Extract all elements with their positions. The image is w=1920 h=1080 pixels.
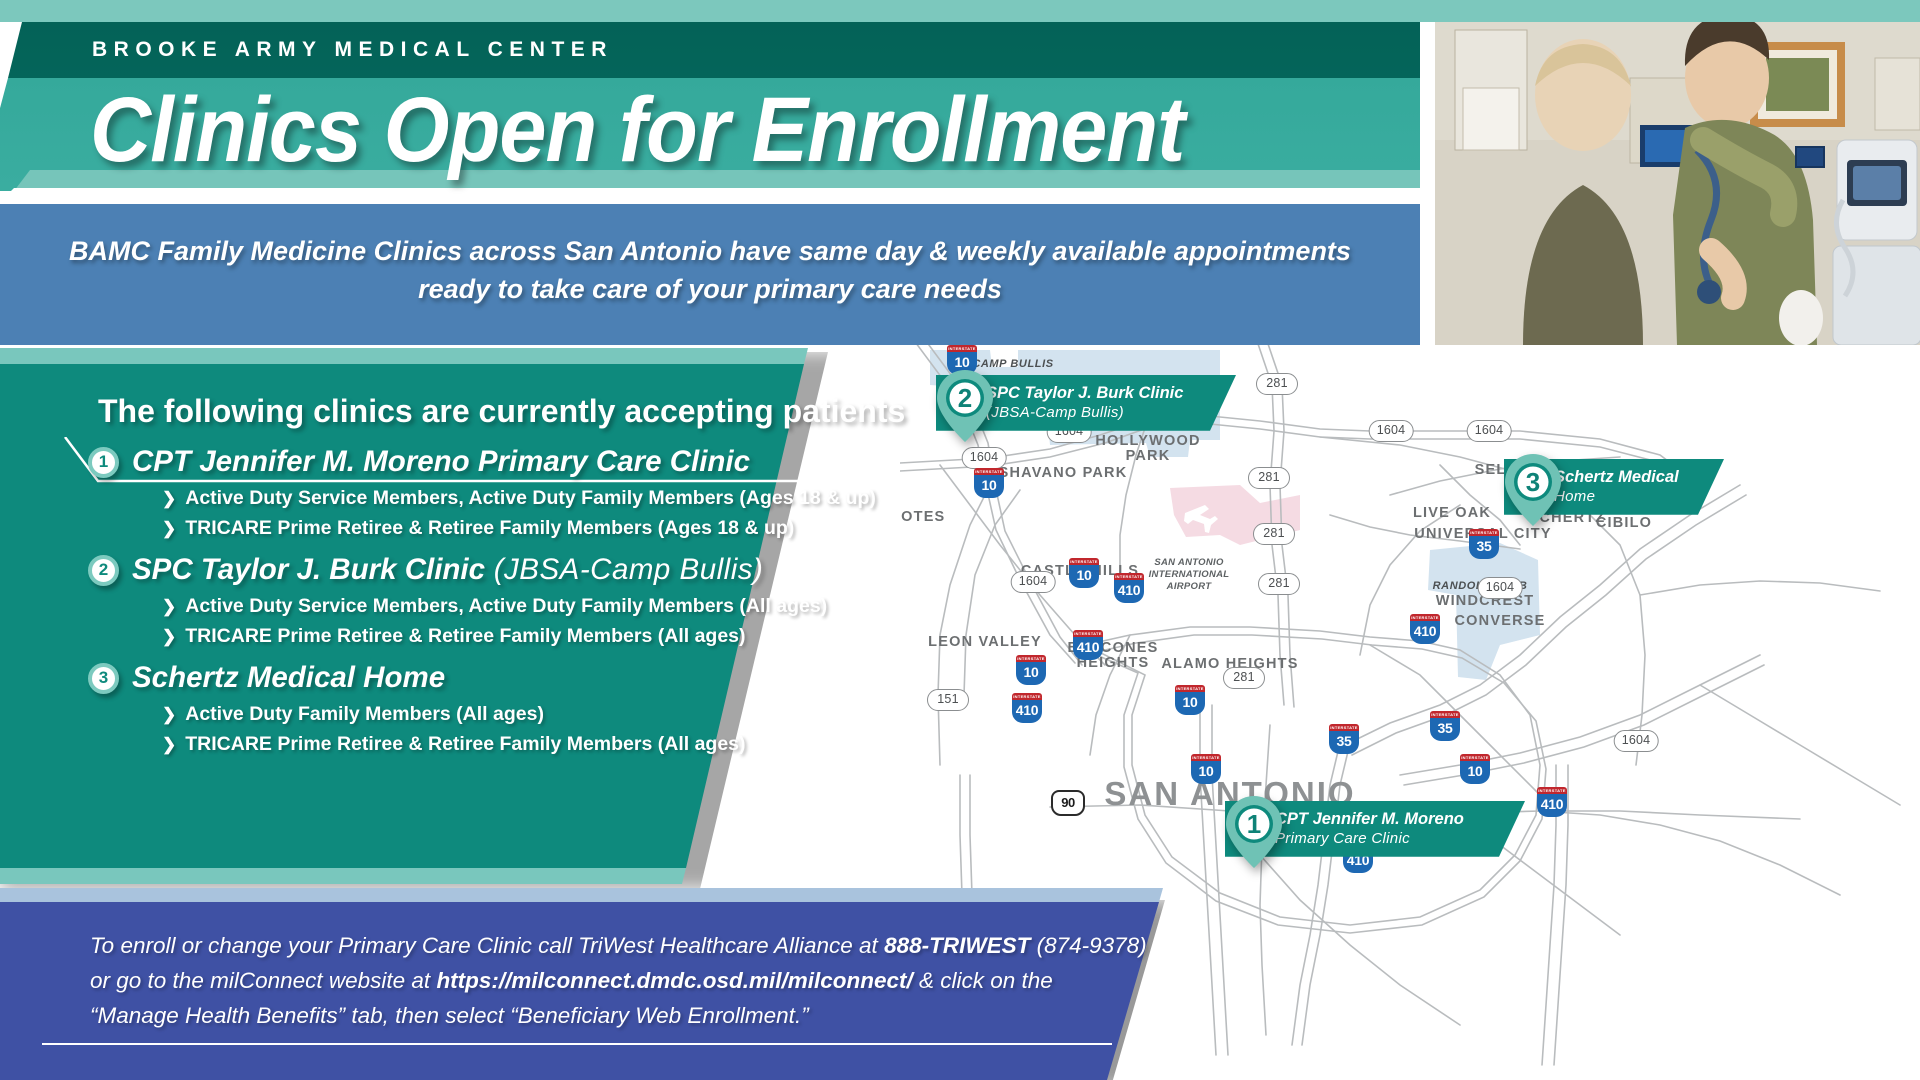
infographic-poster: HOLLYWOODPARKSHAVANO PARKSELMAHELOTESLIV… (0, 0, 1920, 1080)
state-road-shield-icon: 1604 (1478, 577, 1523, 599)
eligibility-item: ❯Active Duty Service Members, Active Dut… (162, 595, 827, 618)
interstate-shield-icon: INTERSTATE35 (1469, 529, 1499, 559)
us-highway-shield-icon: 90 (1051, 790, 1085, 816)
clinic-list-heading: The following clinics are currently acce… (98, 393, 905, 430)
shield-number: 410 (1073, 637, 1103, 660)
footer-line-3: “Manage Health Benefits” tab, then selec… (90, 998, 1170, 1033)
interstate-shield-icon: INTERSTATE410 (1073, 630, 1103, 660)
header-white-gap (0, 188, 1420, 204)
eligibility-item: ❯Active Duty Service Members, Active Dut… (162, 487, 876, 510)
interstate-shield-icon: INTERSTATE10 (1175, 685, 1205, 715)
map-airport-label-line: SAN ANTONIO (1149, 557, 1230, 569)
clinic-entry-3: 3Schertz Medical Home❯Active Duty Family… (88, 661, 746, 756)
interstate-shield-icon: INTERSTATE410 (1012, 693, 1042, 723)
eligibility-label: Active Duty Service Members, Active Duty… (185, 487, 876, 510)
map-pin-subtitle: (JBSA-Camp Bullis) (986, 404, 1202, 422)
map-pin-number: 3 (1504, 459, 1562, 505)
clinic-number-badge: 1 (88, 447, 119, 478)
shield-banner: INTERSTATE (1012, 693, 1042, 700)
map-city-label: HOLLYWOODPARK (1095, 434, 1200, 464)
map-pin-subtitle: Primary Care Clinic (1275, 830, 1491, 848)
map-city-label-line: PARK (1095, 449, 1200, 464)
footer-line2-c: & click on the (913, 968, 1053, 993)
clinic-entry-2: 2SPC Taylor J. Burk Clinic (JBSA-Camp Bu… (88, 553, 827, 648)
clinic-name: SPC Taylor J. Burk Clinic (JBSA-Camp Bul… (132, 553, 763, 587)
chevron-right-icon: ❯ (162, 520, 176, 537)
green-panel-bottom-accent (0, 868, 700, 884)
shield-banner: INTERSTATE (1410, 614, 1440, 621)
shield-number: 10 (1460, 761, 1490, 784)
map-pin-subtitle: Home (1554, 488, 1690, 506)
page-title: Clinics Open for Enrollment (90, 78, 1184, 183)
clinic-eligibility-list: ❯Active Duty Service Members, Active Dut… (162, 487, 876, 540)
chevron-right-icon: ❯ (162, 490, 176, 507)
shield-banner: INTERSTATE (974, 468, 1004, 475)
interstate-shield-icon: INTERSTATE410 (1410, 614, 1440, 644)
shield-banner: INTERSTATE (1537, 787, 1567, 794)
organization-name: BROOKE ARMY MEDICAL CENTER (92, 38, 613, 62)
clinic-title-row: 2SPC Taylor J. Burk Clinic (JBSA-Camp Bu… (88, 553, 827, 587)
clinic-photo-illustration (1435, 0, 1920, 345)
map-airport-label: SAN ANTONIOINTERNATIONALAIRPORT (1149, 557, 1230, 593)
map-airport-label-line: AIRPORT (1149, 581, 1230, 593)
shield-banner: INTERSTATE (1073, 630, 1103, 637)
footer-top-accent (0, 888, 1180, 902)
state-road-shield-icon: 281 (1248, 467, 1290, 489)
state-road-shield-icon: 281 (1256, 373, 1298, 395)
map-pin-title: SPC Taylor J. Burk Clinic (986, 384, 1202, 404)
clinic-eligibility-list: ❯Active Duty Service Members, Active Dut… (162, 595, 827, 648)
map-city-label-line: CIBILO (1596, 516, 1652, 531)
shield-banner: INTERSTATE (1329, 724, 1359, 731)
shield-number: 10 (1016, 662, 1046, 685)
shield-number: 410 (1114, 580, 1144, 603)
page-subtitle: BAMC Family Medicine Clinics across San … (60, 232, 1360, 309)
interstate-shield-icon: INTERSTATE35 (1329, 724, 1359, 754)
state-road-shield-icon: 1604 (962, 447, 1007, 469)
eligibility-item: ❯TRICARE Prime Retiree & Retiree Family … (162, 517, 876, 540)
shield-banner: INTERSTATE (1175, 685, 1205, 692)
clinic-number-badge: 2 (88, 555, 119, 586)
clinic-eligibility-list: ❯Active Duty Family Members (All ages)❯T… (162, 703, 746, 756)
chevron-right-icon: ❯ (162, 736, 176, 753)
state-road-shield-icon: 1604 (1369, 420, 1414, 442)
shield-number: 410 (1012, 700, 1042, 723)
map-city-label-line: CONVERSE (1455, 614, 1546, 629)
clinic-title-row: 3Schertz Medical Home (88, 661, 746, 695)
footer-line2-a: or go to the milConnect website at (90, 968, 436, 993)
map-pin-number: 2 (936, 375, 994, 421)
shield-number: 410 (1410, 621, 1440, 644)
footer-line-1: To enroll or change your Primary Care Cl… (90, 928, 1170, 963)
clinic-entry-1: 1CPT Jennifer M. Moreno Primary Care Cli… (88, 445, 876, 540)
clinic-list-heading-rule (60, 437, 940, 439)
footer-line-2: or go to the milConnect website at https… (90, 963, 1170, 998)
eligibility-item: ❯TRICARE Prime Retiree & Retiree Family … (162, 733, 746, 756)
footer-divider-rule (42, 1043, 1112, 1045)
shield-number: 35 (1430, 718, 1460, 741)
state-road-shield-icon: 281 (1223, 667, 1265, 689)
map-city-label: LEON VALLEY (928, 635, 1042, 650)
clinic-title-row: 1CPT Jennifer M. Moreno Primary Care Cli… (88, 445, 876, 479)
eligibility-item: ❯TRICARE Prime Retiree & Retiree Family … (162, 625, 827, 648)
state-road-shield-icon: 281 (1253, 523, 1295, 545)
clinic-name-location: (JBSA-Camp Bullis) (485, 553, 763, 586)
state-road-shield-icon: 151 (927, 689, 969, 711)
shield-banner: INTERSTATE (1114, 573, 1144, 580)
map-city-label-line: LEON VALLEY (928, 635, 1042, 650)
interstate-shield-icon: INTERSTATE10 (1191, 754, 1221, 784)
map-city-label: SHAVANO PARK (999, 466, 1128, 481)
interstate-shield-icon: INTERSTATE35 (1430, 711, 1460, 741)
map-city-label-line: LIVE OAK (1413, 506, 1491, 521)
map-city-label: CIBILO (1596, 516, 1652, 531)
map-pin-title: CPT Jennifer M. Moreno (1275, 810, 1491, 830)
state-road-shield-icon: 1604 (1011, 571, 1056, 593)
chevron-right-icon: ❯ (162, 598, 176, 615)
map-city-label: LIVE OAK (1413, 506, 1491, 521)
shield-banner: INTERSTATE (1460, 754, 1490, 761)
interstate-shield-icon: INTERSTATE10 (974, 468, 1004, 498)
shield-number: 35 (1469, 536, 1499, 559)
map-city-label: HELOTES (900, 510, 945, 525)
interstate-shield-icon: INTERSTATE10 (1069, 558, 1099, 588)
footer-line1-c: (874-9378) (1030, 933, 1146, 958)
header-photo (1435, 0, 1920, 345)
map-city-label-line: HOLLYWOOD (1095, 434, 1200, 449)
interstate-shield-icon: INTERSTATE10 (1460, 754, 1490, 784)
eligibility-label: Active Duty Service Members, Active Duty… (185, 595, 827, 618)
eligibility-label: TRICARE Prime Retiree & Retiree Family M… (185, 625, 745, 648)
shield-banner: INTERSTATE (1469, 529, 1499, 536)
enrollment-instructions: To enroll or change your Primary Care Cl… (90, 928, 1170, 1033)
chevron-right-icon: ❯ (162, 628, 176, 645)
state-road-shield-icon: 1604 (1467, 420, 1512, 442)
footer-line1-a: To enroll or change your Primary Care Cl… (90, 933, 884, 958)
green-panel-top-accent (0, 348, 815, 364)
shield-number: 410 (1537, 794, 1567, 817)
state-road-shield-icon: 1604 (1614, 730, 1659, 752)
milconnect-url[interactable]: https://milconnect.dmdc.osd.mil/milconne… (436, 968, 912, 993)
map-pin-number: 1 (1225, 801, 1283, 847)
interstate-shield-icon: INTERSTATE410 (1114, 573, 1144, 603)
chevron-right-icon: ❯ (162, 706, 176, 723)
clinic-number-badge: 3 (88, 663, 119, 694)
clinic-name: Schertz Medical Home (132, 661, 445, 695)
shield-number: 10 (1191, 761, 1221, 784)
map-city-label-line: SHAVANO PARK (999, 466, 1128, 481)
eligibility-item: ❯Active Duty Family Members (All ages) (162, 703, 746, 726)
shield-banner: INTERSTATE (1191, 754, 1221, 761)
shield-number: 10 (1175, 692, 1205, 715)
shield-number: 10 (1069, 565, 1099, 588)
triwest-phone: 888-TRIWEST (884, 933, 1030, 958)
map-pin-title: Schertz Medical (1554, 468, 1690, 488)
eligibility-label: TRICARE Prime Retiree & Retiree Family M… (185, 733, 745, 756)
map-city-label: CONVERSE (1455, 614, 1546, 629)
state-road-shield-icon: 281 (1258, 573, 1300, 595)
eligibility-label: TRICARE Prime Retiree & Retiree Family M… (185, 517, 794, 540)
map-city-label-line: HELOTES (900, 510, 945, 525)
clinic-name: CPT Jennifer M. Moreno Primary Care Clin… (132, 445, 750, 479)
header-top-band (0, 0, 1920, 22)
shield-banner: INTERSTATE (1069, 558, 1099, 565)
interstate-shield-icon: INTERSTATE410 (1537, 787, 1567, 817)
shield-banner: INTERSTATE (1016, 655, 1046, 662)
eligibility-label: Active Duty Family Members (All ages) (185, 703, 544, 726)
interstate-shield-icon: INTERSTATE10 (1016, 655, 1046, 685)
shield-number: 35 (1329, 731, 1359, 754)
shield-banner: INTERSTATE (1430, 711, 1460, 718)
shield-banner: INTERSTATE (947, 345, 977, 352)
shield-number: 10 (974, 475, 1004, 498)
map-airport-label-line: INTERNATIONAL (1149, 569, 1230, 581)
